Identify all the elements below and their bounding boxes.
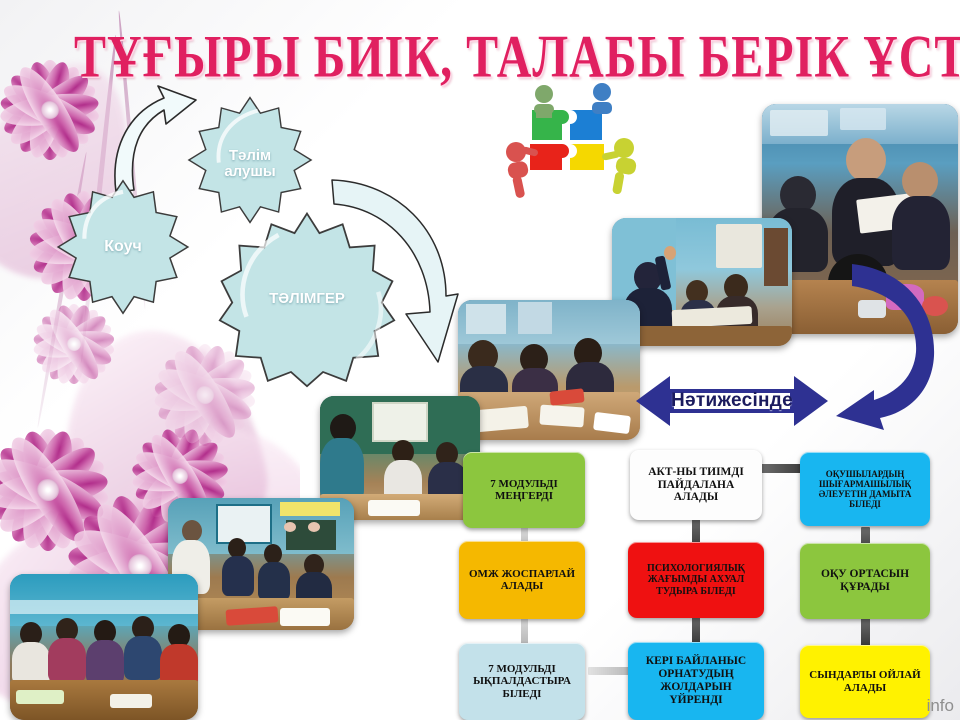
connector-right-2	[861, 616, 870, 646]
curved-arrow-navy	[818, 248, 946, 430]
flow-box-mid-2[interactable]: ПСИХОЛОГИЯЛЫҚ ЖАҒЫМДЫ АХУАЛ ТУДЫРА БІЛЕД…	[628, 542, 764, 618]
connector-mid-2	[692, 614, 700, 644]
flow-box-right-2[interactable]: ОҚУ ОРТАСЫН ҚҰРАДЫ	[800, 543, 930, 619]
flow-box-right-1[interactable]: ОҚУШЫЛАРДЫҢ ШЫҒАРМАШЫЛЫҚ ӘЛЕУЕТІН ДАМЫТА…	[800, 452, 930, 526]
gear-learner[interactable]: Тәлім алушы	[185, 95, 315, 225]
flow-box-left-1[interactable]: 7 МОДУЛЬДІ МЕҢГЕРДІ	[463, 452, 585, 528]
photo-teachers-worksheet-table	[458, 300, 640, 440]
page-title: ТҰҒЫРЫ БИІК, ТАЛАБЫ БЕРІК ҰСТАЗ	[74, 28, 921, 88]
gear-coach[interactable]: Коуч	[54, 178, 192, 316]
watermark-label: info	[927, 696, 954, 716]
flow-box-mid-1[interactable]: АКТ-НЫ ТИІМДІ ПАЙДАЛАНА АЛАДЫ	[630, 450, 762, 520]
flow-box-left-3[interactable]: 7 МОДУЛЬДІ ЫҚПАЛДАСТЫРА БІЛЕДІ	[459, 643, 585, 720]
result-banner-arrow: Нәтижесінде	[636, 372, 828, 430]
connector-left-2	[521, 616, 528, 646]
flow-box-left-2[interactable]: ОМЖ ЖОСПАРЛАЙ АЛАДЫ	[459, 541, 585, 619]
slide-canvas: ТҰҒЫРЫ БИІК, ТАЛАБЫ БЕРІК ҰСТАЗ Коуч Тәл…	[0, 0, 960, 720]
connector-top-mid-right	[760, 464, 804, 473]
gear-mentor[interactable]: ТӘЛІМГЕР	[218, 210, 396, 388]
connector-bottom-left-mid	[588, 667, 630, 675]
flow-box-right-3[interactable]: СЫНДАРЛЫ ОЙЛАЙ АЛАДЫ	[800, 645, 930, 718]
flow-box-mid-3[interactable]: КЕРІ БАЙЛАНЫС ОРНАТУДЫҢ ЖОЛДАРЫН ҮЙРЕНДІ	[628, 642, 764, 720]
puzzle-people-graphic	[492, 82, 668, 198]
result-banner-label: Нәтижесінде	[636, 372, 828, 430]
photo-seminar-audience	[10, 574, 198, 720]
